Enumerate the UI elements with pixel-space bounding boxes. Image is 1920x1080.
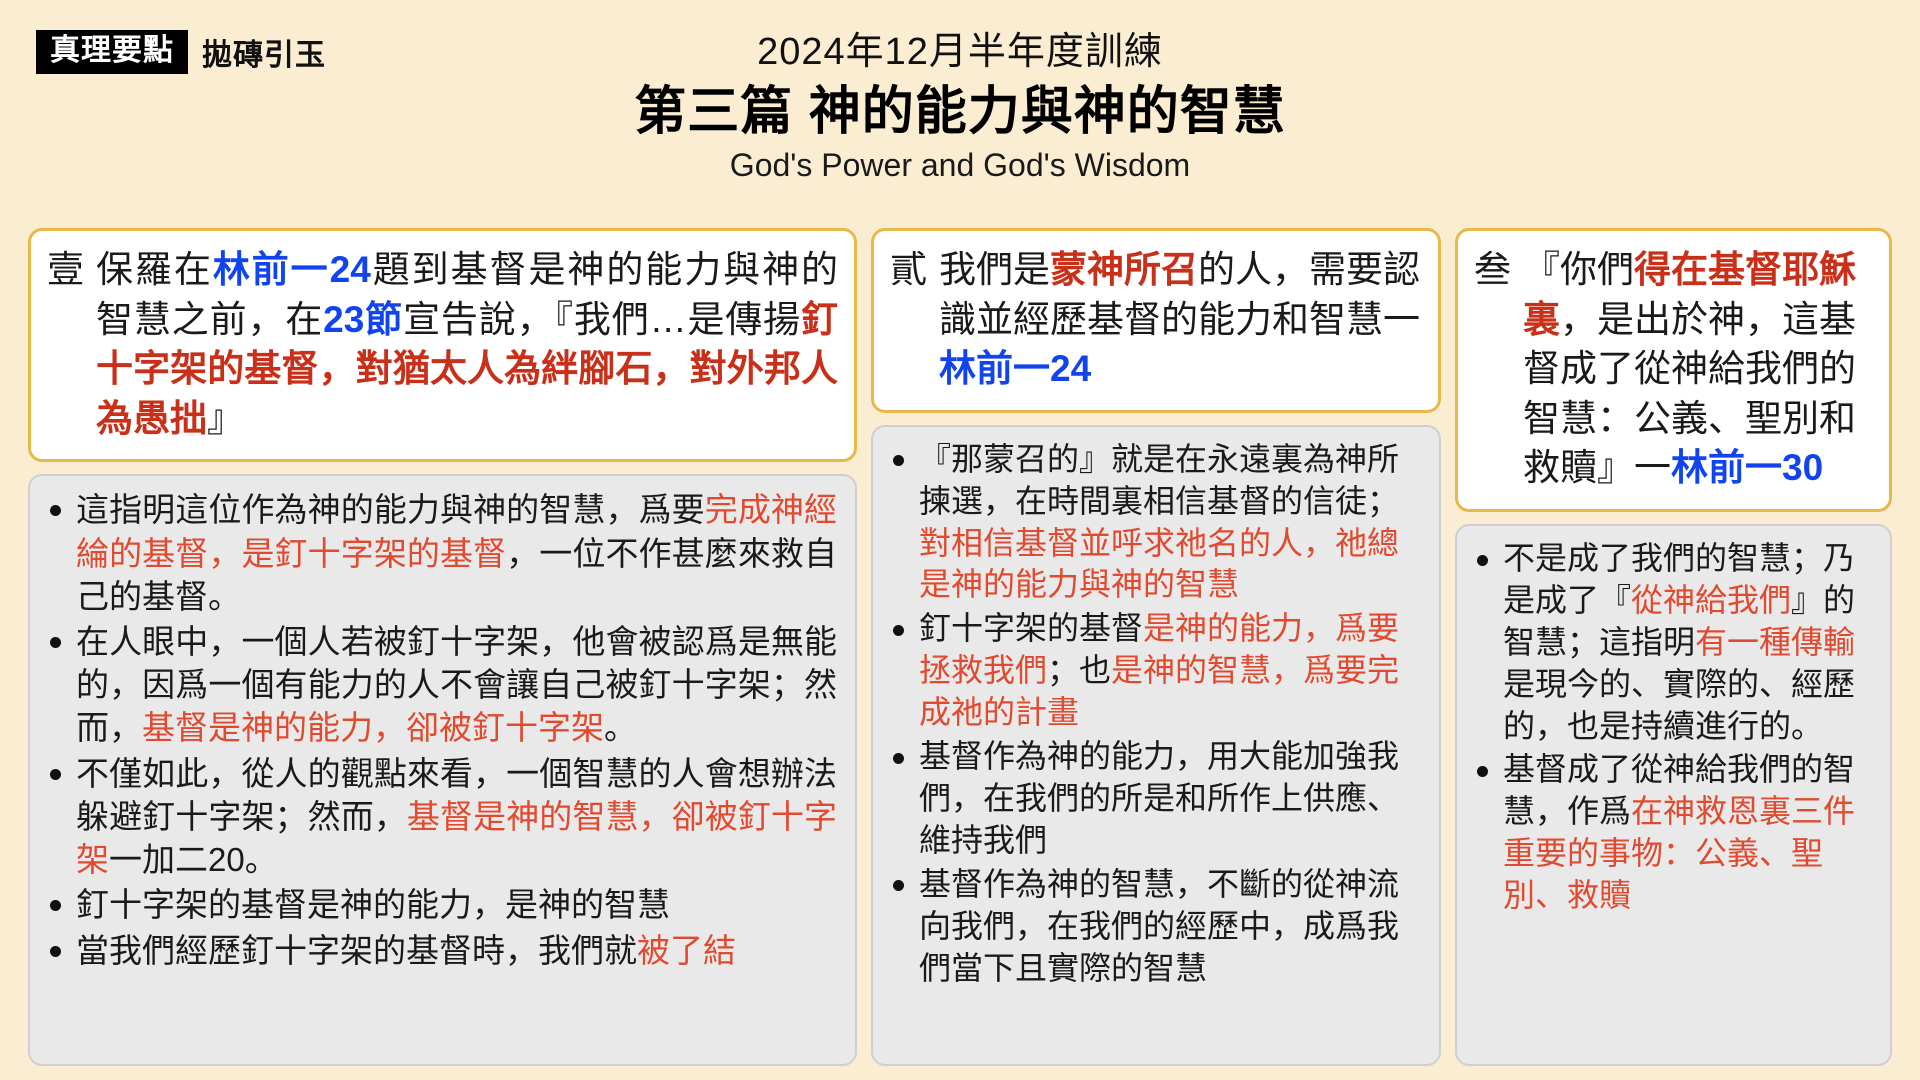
- list-item: 基督作為神的智慧，不斷的從神流向我們，在我們的經歷中，成爲我們當下且實際的智慧: [885, 864, 1421, 990]
- badge-subtitle: 拋磚引玉: [202, 30, 326, 74]
- notes-list-1: 這指明這位作為神的能力與神的智慧，爲要完成神經綸的基督，是釘十字架的基督，一位不…: [42, 488, 837, 971]
- page-title: 第三篇 神的能力與神的智慧: [0, 81, 1920, 144]
- column-1: 壹 保羅在林前一24題到基督是神的能力與神的智慧之前，在23節宣告說，『我們…是…: [28, 228, 857, 1066]
- body-text: 基督作為神的智慧，不斷的從神流向我們，在我們的經歷中，成爲我們當下且實際的智慧: [919, 866, 1399, 986]
- notes-list-3: 不是成了我們的智慧；乃是成了『從神給我們』的智慧；這指明有一種傳輸是現今的、實際…: [1469, 538, 1872, 917]
- body-text: 保羅在: [96, 249, 213, 290]
- body-text: 』: [207, 398, 244, 439]
- body-text: 釘十字架的基督是神的能力，是神的智慧: [76, 886, 670, 923]
- point-text-3: 『你們得在基督耶穌裏，是出於神，這基督成了從神給我們的智慧：公義、聖別和救贖』一…: [1523, 245, 1873, 493]
- point-marker-2: 貳: [890, 245, 927, 295]
- body-text: 我們是: [939, 249, 1050, 290]
- emphasis-text: 基督是神的能力，卻被釘十字架: [142, 709, 604, 746]
- body-text: 『那蒙召的』就是在永遠裏為神所揀選，在時間裏相信基督的信徒；: [919, 441, 1399, 519]
- scripture-reference: 23節: [323, 299, 403, 340]
- list-item: 不僅如此，從人的觀點來看，一個智慧的人會想辦法躲避釘十字架；然而，基督是神的智慧…: [42, 752, 837, 882]
- list-item: 『那蒙召的』就是在永遠裏為神所揀選，在時間裏相信基督的信徒；對相信基督並呼求祂名…: [885, 439, 1421, 607]
- body-text: 當我們經歷釘十字架的基督時，我們就: [76, 932, 637, 969]
- list-item: 這指明這位作為神的能力與神的智慧，爲要完成神經綸的基督，是釘十字架的基督，一位不…: [42, 488, 837, 618]
- truth-point-badge: 真理要點: [36, 30, 188, 74]
- scripture-reference: 林前一24: [213, 249, 371, 290]
- body-text: 。: [604, 709, 637, 746]
- page-subtitle-english: God's Power and God's Wisdom: [0, 146, 1920, 184]
- scripture-reference: 林前一24: [939, 348, 1091, 389]
- point-text-2: 我們是蒙神所召的人，需要認識並經歷基督的能力和智慧一林前一24: [939, 245, 1422, 394]
- column-3: 叁 『你們得在基督耶穌裏，是出於神，這基督成了從神給我們的智慧：公義、聖別和救贖…: [1455, 228, 1892, 1066]
- emphasis-text: 被了結: [637, 932, 736, 969]
- content-columns: 壹 保羅在林前一24題到基督是神的能力與神的智慧之前，在23節宣告說，『我們…是…: [28, 228, 1892, 1066]
- list-item: 基督成了從神給我們的智慧，作爲在神救恩裏三件重要的事物：公義、聖別、救贖: [1469, 749, 1872, 917]
- body-text: 這指明這位作為神的能力與神的智慧，爲要: [76, 491, 705, 528]
- list-item: 當我們經歷釘十字架的基督時，我們就被了結: [42, 929, 837, 972]
- emphasis-text: 有一種傳輸: [1695, 624, 1855, 660]
- emphasis-text: 從神給我們: [1631, 582, 1791, 618]
- body-text: 『你們: [1523, 249, 1634, 290]
- list-item: 在人眼中，一個人若被釘十字架，他會被認爲是無能的，因爲一個有能力的人不會讓自己被…: [42, 620, 837, 750]
- body-text: ；也: [1047, 652, 1111, 688]
- notes-card-2: 『那蒙召的』就是在永遠裏為神所揀選，在時間裏相信基督的信徒；對相信基督並呼求祂名…: [871, 425, 1441, 1066]
- point-card-1: 壹 保羅在林前一24題到基督是神的能力與神的智慧之前，在23節宣告說，『我們…是…: [28, 228, 857, 462]
- body-text: 是現今的、實際的、經歷的，也是持續進行的。: [1503, 666, 1855, 744]
- point-text-1: 保羅在林前一24題到基督是神的能力與神的智慧之前，在23節宣告說，『我們…是傳揚…: [96, 245, 838, 443]
- body-text: 釘十字架的基督: [919, 610, 1143, 646]
- page-header: 真理要點 拋磚引玉 2024年12月半年度訓練 第三篇 神的能力與神的智慧 Go…: [0, 0, 1920, 212]
- list-item: 不是成了我們的智慧；乃是成了『從神給我們』的智慧；這指明有一種傳輸是現今的、實際…: [1469, 538, 1872, 748]
- list-item: 釘十字架的基督是神的能力，爲要拯救我們；也是神的智慧，爲要完成祂的計畫: [885, 608, 1421, 734]
- column-2: 貳 我們是蒙神所召的人，需要認識並經歷基督的能力和智慧一林前一24 『那蒙召的』…: [871, 228, 1441, 1066]
- body-text: 基督作為神的能力，用大能加強我們，在我們的所是和所作上供應、維持我們: [919, 738, 1399, 858]
- body-text: 宣告說，『我們…是傳揚: [403, 299, 801, 340]
- emphasis-text: 蒙神所召: [1050, 249, 1198, 290]
- badge-row: 真理要點 拋磚引玉: [36, 30, 326, 74]
- notes-card-1: 這指明這位作為神的能力與神的智慧，爲要完成神經綸的基督，是釘十字架的基督，一位不…: [28, 474, 857, 1066]
- point-marker-1: 壹: [47, 245, 84, 295]
- body-text: 一加二20。: [109, 841, 278, 878]
- scripture-reference: 林前一30: [1671, 447, 1823, 488]
- list-item: 基督作為神的能力，用大能加強我們，在我們的所是和所作上供應、維持我們: [885, 736, 1421, 862]
- notes-list-2: 『那蒙召的』就是在永遠裏為神所揀選，在時間裏相信基督的信徒；對相信基督並呼求祂名…: [885, 439, 1421, 990]
- point-marker-3: 叁: [1474, 245, 1511, 295]
- emphasis-text: 對相信基督並呼求祂名的人，祂總是神的能力與神的智慧: [919, 525, 1399, 603]
- notes-card-3: 不是成了我們的智慧；乃是成了『從神給我們』的智慧；這指明有一種傳輸是現今的、實際…: [1455, 524, 1892, 1066]
- list-item: 釘十字架的基督是神的能力，是神的智慧: [42, 883, 837, 926]
- point-card-3: 叁 『你們得在基督耶穌裏，是出於神，這基督成了從神給我們的智慧：公義、聖別和救贖…: [1455, 228, 1892, 512]
- point-card-2: 貳 我們是蒙神所召的人，需要認識並經歷基督的能力和智慧一林前一24: [871, 228, 1441, 413]
